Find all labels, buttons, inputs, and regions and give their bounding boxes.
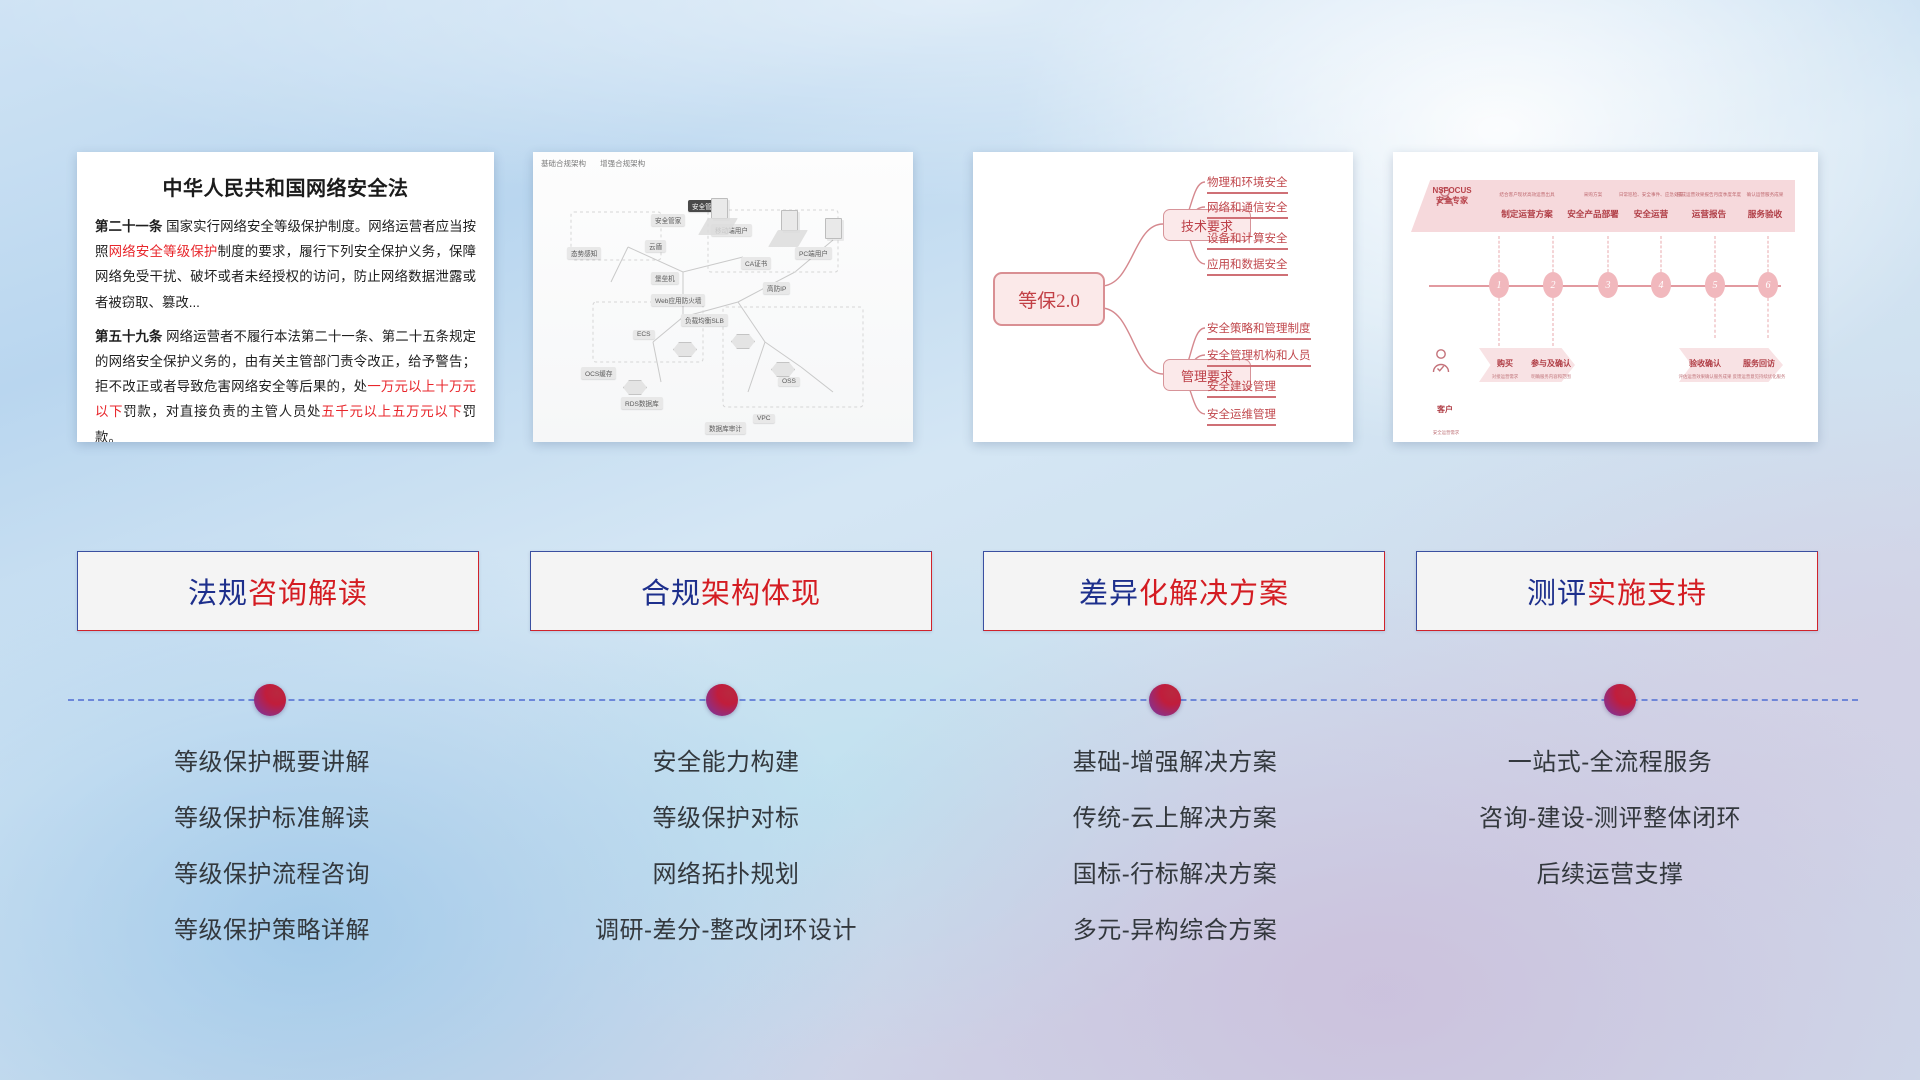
banner-title-3: 测评实施支持 bbox=[1527, 570, 1707, 612]
list-item: 调研-差分-整改闭环设计 bbox=[516, 910, 936, 945]
banner-compliance-architecture[interactable]: 合规架构体现 bbox=[530, 551, 932, 631]
banner-title-2: 差异化解决方案 bbox=[1079, 570, 1289, 612]
list-item: 网络拓扑规划 bbox=[516, 854, 936, 889]
detail-list-2: 安全能力构建 等级保护对标 网络拓扑规划 调研-差分-整改闭环设计 bbox=[516, 742, 936, 945]
detail-column-2: 安全能力构建 等级保护对标 网络拓扑规划 调研-差分-整改闭环设计 bbox=[516, 742, 936, 966]
detail-column-3: 基础-增强解决方案 传统-云上解决方案 国标-行标解决方案 多元-异构综合方案 bbox=[965, 742, 1385, 966]
detail-column-4: 一站式-全流程服务 咨询-建设-测评整体闭环 后续运营支撑 bbox=[1400, 742, 1820, 910]
list-item: 等级保护概要讲解 bbox=[62, 742, 482, 777]
list-item: 基础-增强解决方案 bbox=[965, 742, 1385, 777]
list-item: 安全能力构建 bbox=[516, 742, 936, 777]
banner-title-0-blue: 法规 bbox=[188, 578, 248, 610]
timeline-dot-2[interactable] bbox=[706, 684, 738, 716]
list-item: 后续运营支撑 bbox=[1400, 854, 1820, 889]
detail-column-1: 等级保护概要讲解 等级保护标准解读 等级保护流程咨询 等级保护策略详解 bbox=[62, 742, 482, 966]
list-item: 多元-异构综合方案 bbox=[965, 910, 1385, 945]
banner-title-3-red: 实施支持 bbox=[1587, 578, 1707, 610]
banner-title-1-blue: 合规 bbox=[641, 578, 701, 610]
timeline-dot-4[interactable] bbox=[1604, 684, 1636, 716]
banner-title-1: 合规架构体现 bbox=[641, 570, 821, 612]
list-item: 等级保护流程咨询 bbox=[62, 854, 482, 889]
list-item: 咨询-建设-测评整体闭环 bbox=[1400, 798, 1820, 833]
banner-title-3-blue: 测评 bbox=[1527, 578, 1587, 610]
list-item: 等级保护策略详解 bbox=[62, 910, 482, 945]
banner-title-2-blue: 差异 bbox=[1079, 578, 1139, 610]
detail-list-4: 一站式-全流程服务 咨询-建设-测评整体闭环 后续运营支撑 bbox=[1400, 742, 1820, 889]
banner-assessment-support[interactable]: 测评实施支持 bbox=[1416, 551, 1818, 631]
banner-title-0: 法规咨询解读 bbox=[188, 570, 368, 612]
list-item: 一站式-全流程服务 bbox=[1400, 742, 1820, 777]
banner-title-1-red: 架构体现 bbox=[701, 578, 821, 610]
banner-differentiated-solution[interactable]: 差异化解决方案 bbox=[983, 551, 1385, 631]
list-item: 等级保护标准解读 bbox=[62, 798, 482, 833]
banner-regulation-consulting[interactable]: 法规咨询解读 bbox=[77, 551, 479, 631]
timeline-dashed-line bbox=[68, 699, 1858, 701]
timeline-dot-1[interactable] bbox=[254, 684, 286, 716]
timeline-dot-3[interactable] bbox=[1149, 684, 1181, 716]
banner-title-2-red: 化解决方案 bbox=[1139, 578, 1289, 610]
detail-list-3: 基础-增强解决方案 传统-云上解决方案 国标-行标解决方案 多元-异构综合方案 bbox=[965, 742, 1385, 945]
banner-title-0-red: 咨询解读 bbox=[248, 578, 368, 610]
list-item: 等级保护对标 bbox=[516, 798, 936, 833]
list-item: 国标-行标解决方案 bbox=[965, 854, 1385, 889]
detail-list-1: 等级保护概要讲解 等级保护标准解读 等级保护流程咨询 等级保护策略详解 bbox=[62, 742, 482, 945]
list-item: 传统-云上解决方案 bbox=[965, 798, 1385, 833]
